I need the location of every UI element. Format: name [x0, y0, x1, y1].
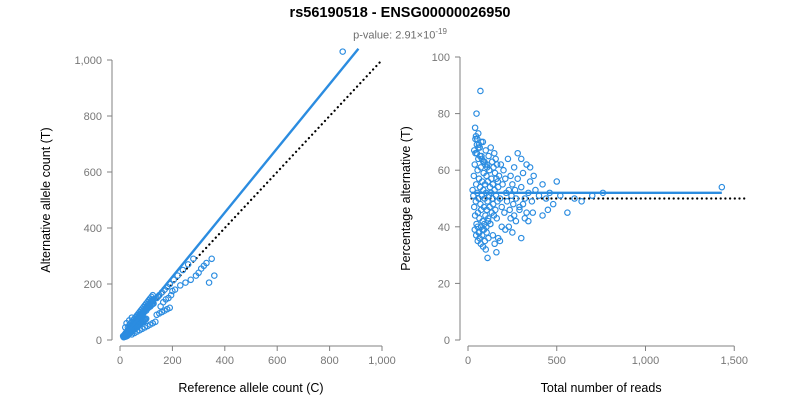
left-plot-svg: 02004006008001,00002004006008001,000Refe… — [0, 40, 400, 400]
data-point — [212, 273, 217, 278]
data-point — [526, 218, 531, 223]
data-point — [505, 156, 510, 161]
x-tick-label: 200 — [163, 355, 181, 367]
y-tick-label: 20 — [438, 278, 450, 290]
data-point — [545, 207, 550, 212]
y-tick-label: 0 — [96, 335, 102, 347]
x-tick-label: 1,000 — [632, 355, 660, 367]
data-point — [488, 145, 493, 150]
data-point — [565, 210, 570, 215]
left-scatter-panel: 02004006008001,00002004006008001,000Refe… — [0, 40, 400, 400]
data-point — [482, 238, 487, 243]
data-point — [472, 162, 477, 167]
y-tick-label: 100 — [432, 52, 450, 64]
y-tick-label: 200 — [84, 279, 102, 291]
data-point — [513, 218, 518, 223]
axes: 02004006008001,00002004006008001,000Refe… — [39, 55, 396, 395]
y-axis-title: Percentage alternative (T) — [399, 126, 413, 271]
data-point — [511, 213, 516, 218]
data-point — [524, 162, 529, 167]
data-point — [507, 207, 512, 212]
data-point — [499, 224, 504, 229]
data-point — [178, 283, 183, 288]
x-axis-title: Total number of reads — [541, 381, 662, 395]
data-point — [522, 216, 527, 221]
y-tick-label: 60 — [438, 165, 450, 177]
data-point — [719, 184, 724, 189]
data-point — [519, 184, 524, 189]
data-point — [520, 170, 525, 175]
data-point — [500, 182, 505, 187]
data-point — [510, 182, 515, 187]
x-tick-label: 800 — [320, 355, 338, 367]
plot-area — [120, 49, 382, 340]
data-point — [478, 201, 483, 206]
data-point — [474, 111, 479, 116]
data-point — [508, 173, 513, 178]
data-point — [515, 151, 520, 156]
data-points — [470, 88, 725, 260]
data-point — [503, 227, 508, 232]
data-point — [579, 199, 584, 204]
data-point — [519, 235, 524, 240]
data-point — [506, 224, 511, 229]
y-tick-label: 40 — [438, 222, 450, 234]
data-point — [540, 213, 545, 218]
data-point — [551, 201, 556, 206]
data-point — [520, 201, 525, 206]
data-point — [515, 176, 520, 181]
right-plot-svg: 05001,0001,500020406080100Total number o… — [390, 40, 800, 400]
y-axis-title: Alternative allele count (T) — [39, 127, 53, 272]
figure-container: rs56190518 - ENSG00000026950 p-value: 2.… — [0, 0, 800, 400]
data-point — [498, 162, 503, 167]
data-point — [493, 156, 498, 161]
data-point — [519, 156, 524, 161]
data-point — [554, 179, 559, 184]
data-point — [490, 233, 495, 238]
data-point — [209, 256, 214, 261]
data-point — [529, 199, 534, 204]
data-point — [478, 88, 483, 93]
data-points — [120, 49, 345, 340]
data-point — [493, 207, 498, 212]
data-point — [206, 280, 211, 285]
figure-title: rs56190518 - ENSG00000026950 — [0, 5, 800, 21]
data-point — [494, 250, 499, 255]
pvalue-exponent: -19 — [435, 27, 447, 36]
x-tick-label: 0 — [465, 355, 471, 367]
data-point — [492, 241, 497, 246]
x-axis-title: Reference allele count (C) — [178, 381, 323, 395]
y-tick-label: 600 — [84, 167, 102, 179]
data-point — [504, 199, 509, 204]
data-point — [471, 173, 476, 178]
data-point — [540, 182, 545, 187]
data-point — [530, 210, 535, 215]
axes: 05001,0001,500020406080100Total number o… — [399, 52, 748, 395]
data-point — [524, 210, 529, 215]
data-point — [511, 165, 516, 170]
data-point — [502, 210, 507, 215]
data-point — [472, 125, 477, 130]
y-tick-label: 80 — [438, 109, 450, 121]
data-point — [531, 173, 536, 178]
x-tick-label: 400 — [216, 355, 234, 367]
data-point — [340, 49, 345, 54]
data-point — [472, 204, 477, 209]
y-tick-label: 0 — [444, 335, 450, 347]
x-tick-label: 600 — [268, 355, 286, 367]
x-tick-label: 1,500 — [720, 355, 748, 367]
data-point — [183, 280, 188, 285]
x-tick-label: 500 — [548, 355, 566, 367]
data-point — [510, 230, 515, 235]
data-point — [486, 153, 491, 158]
data-point — [485, 255, 490, 260]
y-tick-label: 800 — [84, 111, 102, 123]
data-point — [527, 165, 532, 170]
plot-area — [470, 88, 749, 260]
data-point — [511, 201, 516, 206]
x-tick-label: 0 — [117, 355, 123, 367]
y-tick-label: 400 — [84, 223, 102, 235]
data-point — [501, 168, 506, 173]
regression-fit — [123, 49, 359, 338]
data-point — [499, 204, 504, 209]
data-point — [508, 216, 513, 221]
data-point — [492, 151, 497, 156]
data-point — [527, 179, 532, 184]
data-point — [188, 277, 193, 282]
right-scatter-panel: 05001,0001,500020406080100Total number o… — [390, 40, 800, 400]
data-point — [503, 176, 508, 181]
y-tick-label: 1,000 — [74, 55, 102, 67]
